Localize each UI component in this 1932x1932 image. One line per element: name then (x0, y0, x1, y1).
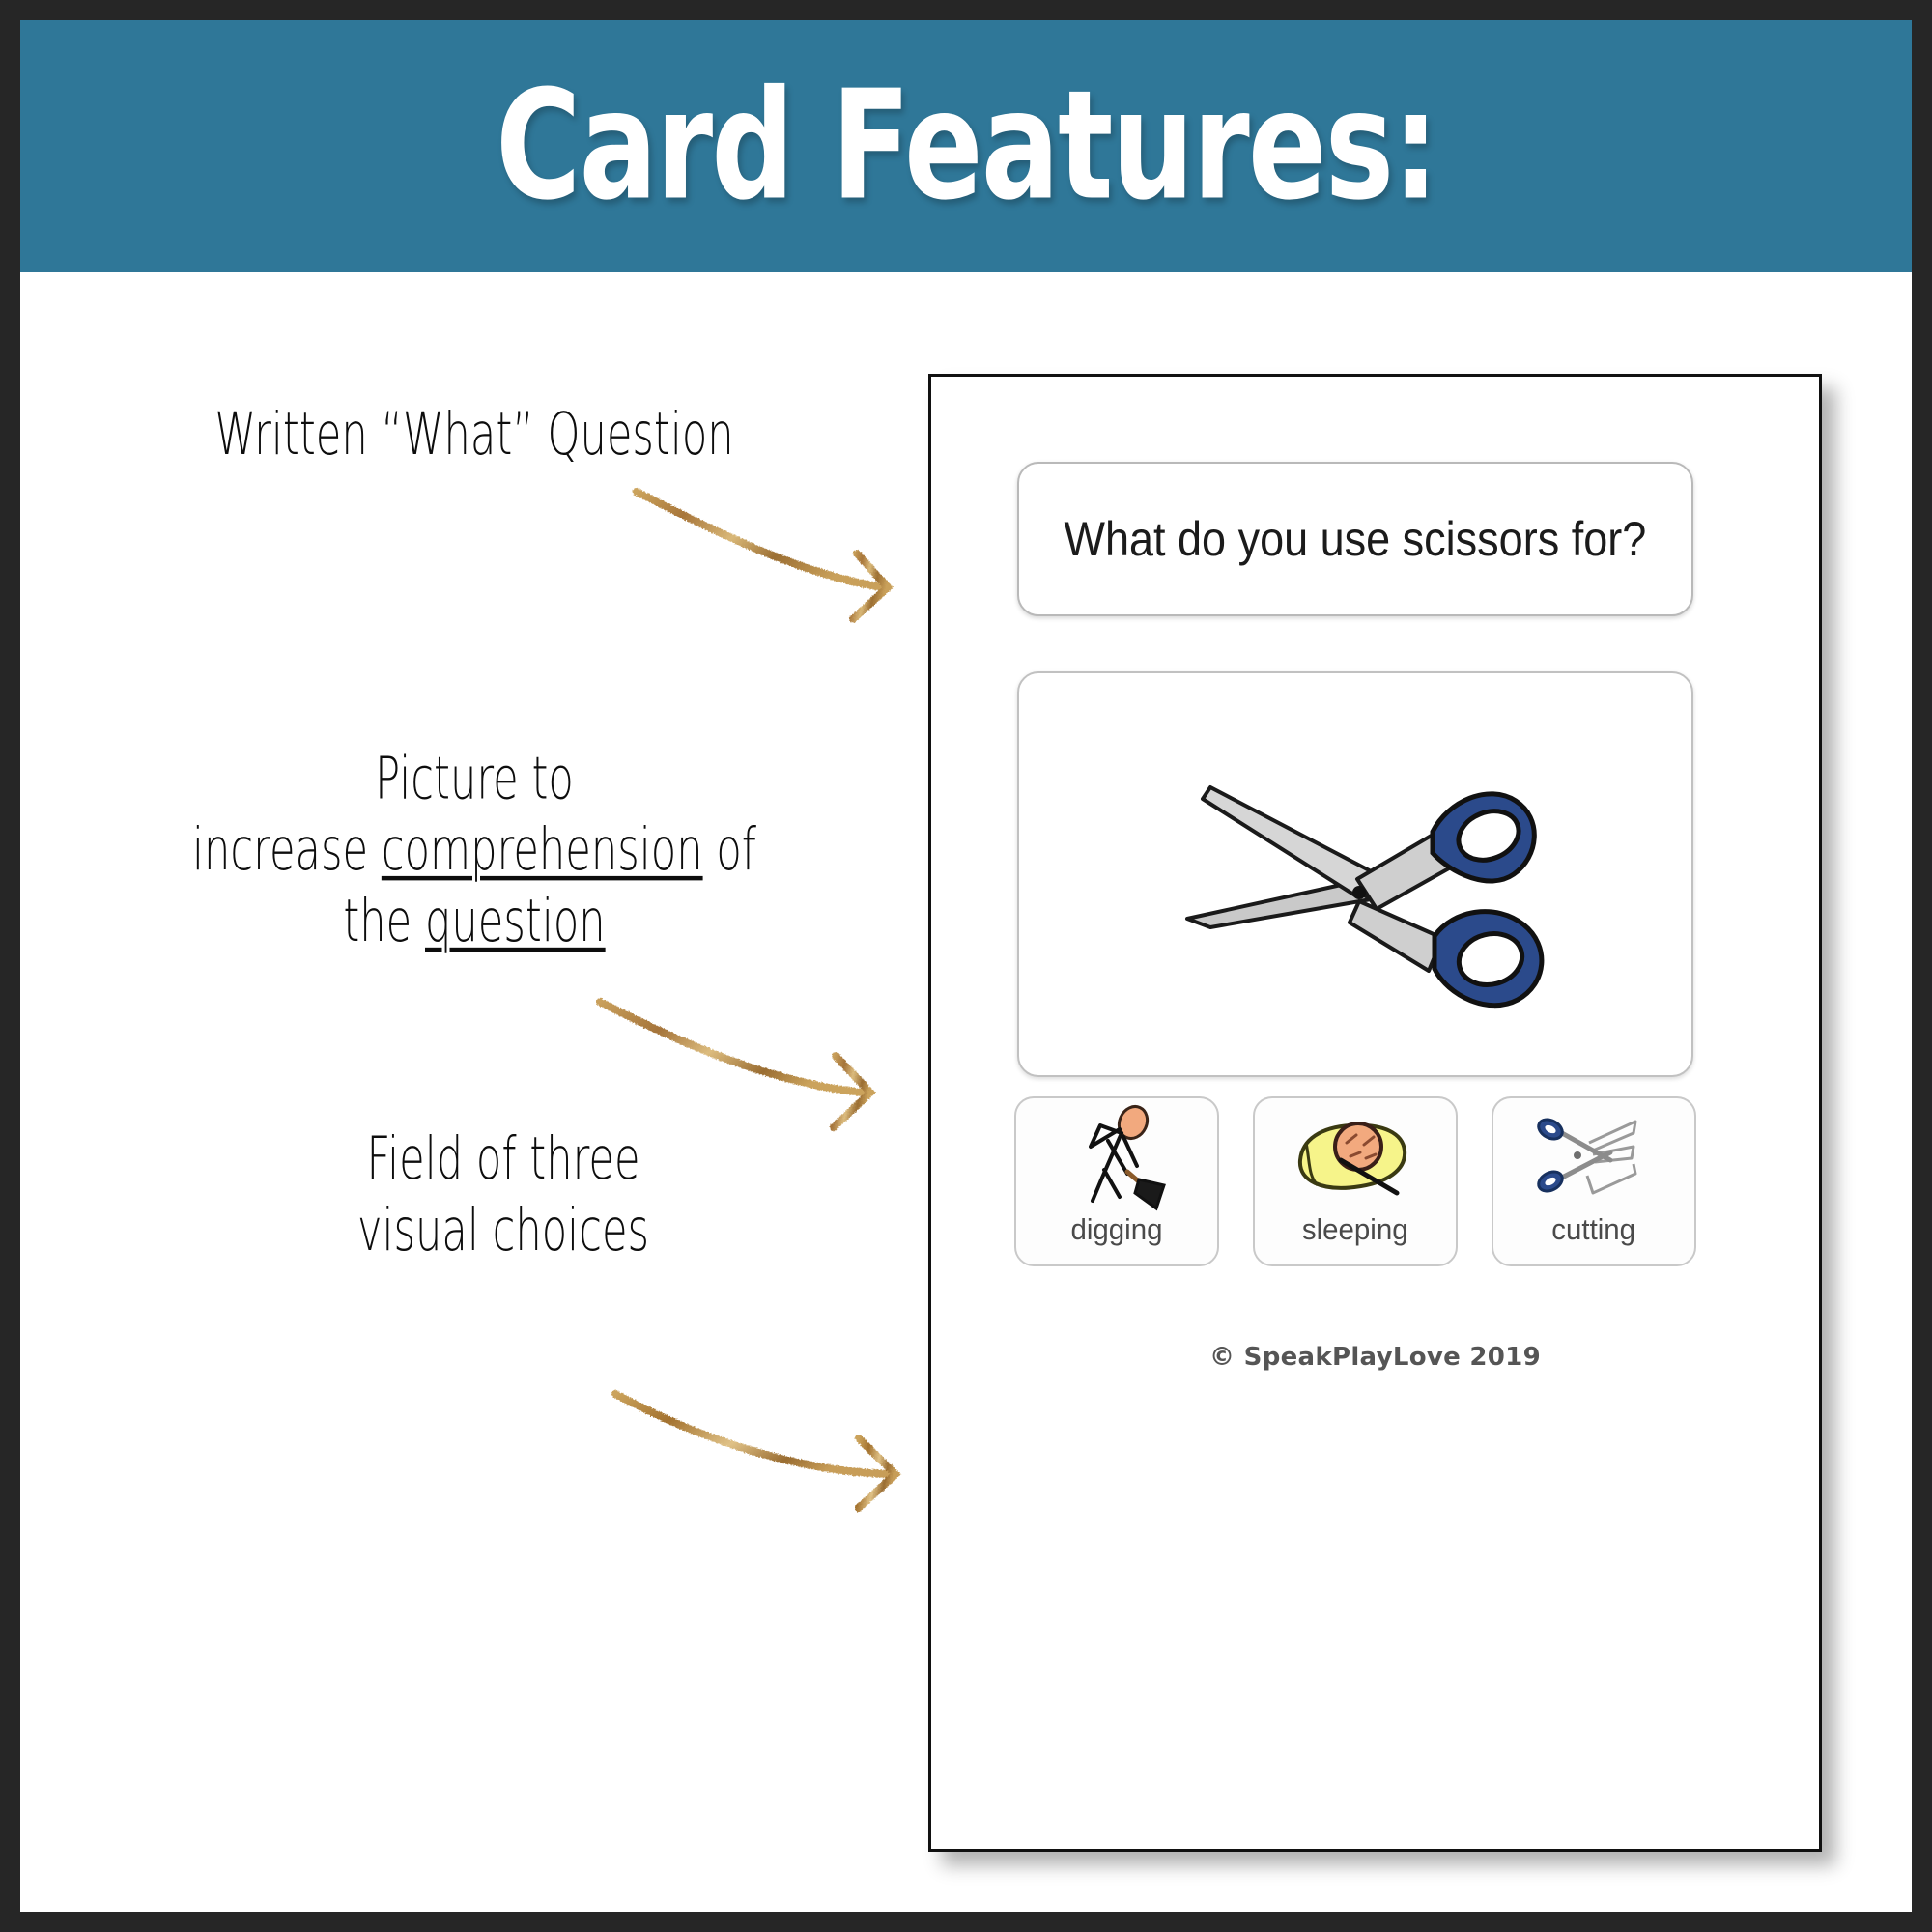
annotation-text: visual choices (357, 1196, 649, 1264)
annotation-line: visual choices (256, 1195, 751, 1266)
annotation-text: increase (192, 815, 382, 884)
annotation-line: Field of three (256, 1123, 751, 1195)
page-title: Card Features: (496, 71, 1436, 221)
annotation-picture-comprehension: Picture toincrease comprehension ofthe q… (142, 743, 807, 956)
choice-label: digging (1070, 1214, 1162, 1244)
picture-box (1017, 671, 1693, 1077)
scissors-icon (1152, 729, 1558, 1019)
choice-label: cutting (1552, 1214, 1636, 1244)
annotation-text: Picture to (375, 744, 574, 812)
sleeping-icon (1283, 1104, 1428, 1212)
choice-cutting[interactable]: cutting (1492, 1096, 1696, 1266)
annotation-text: of (703, 815, 756, 884)
copyright-text: © SpeakPlayLove 2019 (931, 1343, 1819, 1372)
annotation-field-of-three: Field of threevisual choices (256, 1123, 751, 1266)
annotation-line: Written “What” Question (188, 399, 760, 470)
digging-icon (1044, 1104, 1189, 1212)
annotation-written-what-question: Written “What” Question (188, 399, 760, 470)
choice-label: sleeping (1302, 1214, 1408, 1244)
question-box: What do you use scissors for? (1017, 462, 1693, 616)
emphasised-word: comprehension (382, 815, 703, 884)
choices-row: digging (1014, 1096, 1696, 1270)
slide-page: Card Features: Written “What” Question P… (0, 0, 1932, 1932)
question-text: What do you use scissors for? (1065, 511, 1647, 567)
sample-card: What do you use scissors for? (928, 374, 1822, 1852)
annotation-line: the question (142, 886, 807, 957)
cutting-icon (1521, 1104, 1666, 1212)
annotation-line: increase comprehension of (142, 814, 807, 886)
annotation-text: Field of three (366, 1124, 639, 1193)
annotation-line: Picture to (142, 743, 807, 814)
choice-sleeping[interactable]: sleeping (1253, 1096, 1458, 1266)
annotation-text: the (343, 887, 425, 955)
emphasised-word: question (425, 887, 606, 955)
annotation-text: Written “What” Question (214, 400, 733, 469)
choice-digging[interactable]: digging (1014, 1096, 1219, 1266)
header-banner: Card Features: (20, 20, 1912, 272)
